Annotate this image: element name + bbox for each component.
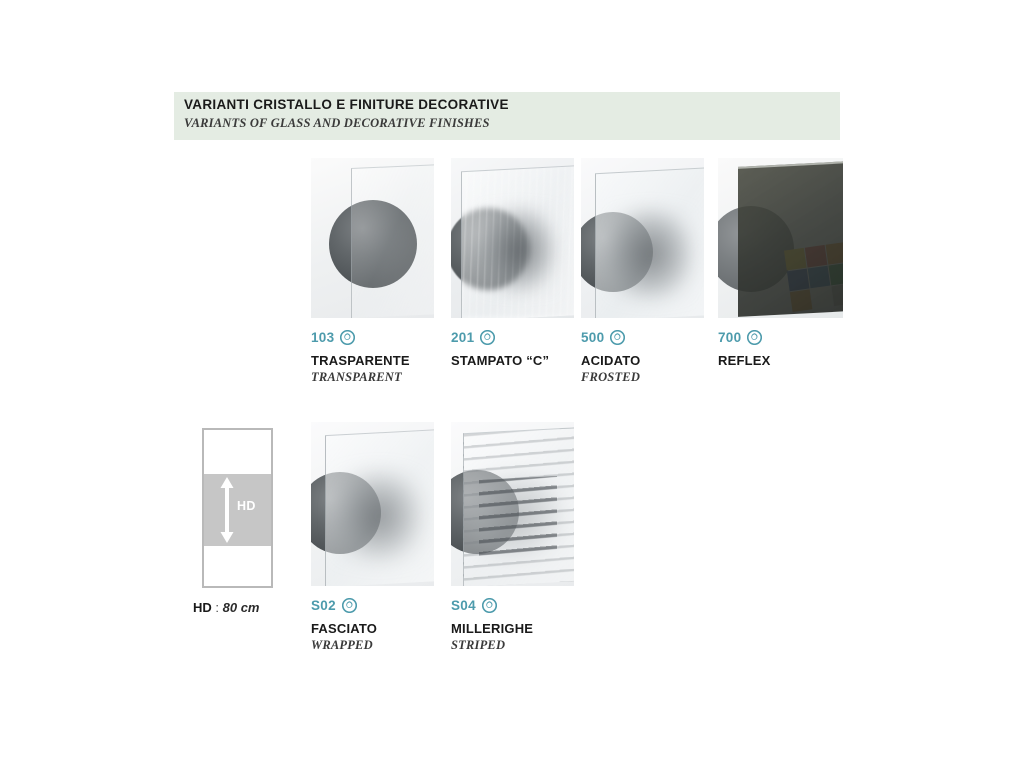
sample-image-patterned xyxy=(451,158,574,318)
sample-card-S02[interactable]: S02 FASCIATO WRAPPED xyxy=(311,422,434,586)
diffused-sphere-overlay xyxy=(335,470,423,562)
hd-dimension-diagram: HD xyxy=(202,428,273,588)
page-subtitle: VARIANTS OF GLASS AND DECORATIVE FINISHE… xyxy=(184,116,490,131)
hd-double-arrow-icon xyxy=(218,476,236,544)
sample-name: MILLERIGHE xyxy=(451,621,591,636)
hd-caption-value: 80 cm xyxy=(223,600,260,615)
sample-name-en: TRANSPARENT xyxy=(311,370,451,385)
section-header-band: VARIANTI CRISTALLO E FINITURE DECORATIVE… xyxy=(174,92,840,140)
hd-caption-separator: : xyxy=(212,600,223,615)
code-row: S04 xyxy=(451,596,591,614)
sample-caption-500: 500 ACIDATO FROSTED xyxy=(581,328,721,385)
hd-caption: HD : 80 cm xyxy=(193,600,260,615)
diffused-sphere-overlay xyxy=(607,208,693,300)
sample-card-103[interactable]: 103 TRASPARENTE TRANSPARENT xyxy=(311,158,434,318)
sample-name: ACIDATO xyxy=(581,353,721,368)
sample-name-en: WRAPPED xyxy=(311,638,451,653)
sample-code: 500 xyxy=(581,330,604,345)
water-drop-in-circle-icon xyxy=(340,330,355,345)
glass-pane-reflex xyxy=(738,161,843,317)
sample-card-S04[interactable]: S04 MILLERIGHE STRIPED xyxy=(451,422,574,586)
sample-card-500[interactable]: 500 ACIDATO FROSTED xyxy=(581,158,704,318)
water-drop-in-circle-icon xyxy=(610,330,625,345)
sample-caption-201: 201 STAMPATO “C” xyxy=(451,328,591,370)
sample-image-wrapped xyxy=(311,422,434,586)
page-title: VARIANTI CRISTALLO E FINITURE DECORATIVE xyxy=(184,97,509,112)
sample-caption-103: 103 TRASPARENTE TRANSPARENT xyxy=(311,328,451,385)
stripe-distortion-overlay xyxy=(479,476,557,556)
sample-name: TRASPARENTE xyxy=(311,353,451,368)
hd-caption-key: HD xyxy=(193,600,212,615)
sample-caption-700: 700 REFLEX xyxy=(718,328,858,370)
code-row: 500 xyxy=(581,328,721,346)
sample-caption-S02: S02 FASCIATO WRAPPED xyxy=(311,596,451,653)
sample-name-en: STRIPED xyxy=(451,638,591,653)
water-drop-in-circle-icon xyxy=(482,598,497,613)
diffused-sphere-overlay xyxy=(481,206,557,294)
sample-code: S04 xyxy=(451,598,476,613)
sample-code: 201 xyxy=(451,330,474,345)
sample-card-201[interactable]: 201 STAMPATO “C” xyxy=(451,158,574,318)
code-row: S02 xyxy=(311,596,451,614)
sample-image-striped xyxy=(451,422,574,586)
sample-name: REFLEX xyxy=(718,353,858,368)
sample-code: S02 xyxy=(311,598,336,613)
hd-label: HD xyxy=(237,499,256,513)
sample-code: 700 xyxy=(718,330,741,345)
code-row: 103 xyxy=(311,328,451,346)
sample-image-reflex xyxy=(718,158,843,318)
water-drop-in-circle-icon xyxy=(747,330,762,345)
sample-image-frosted xyxy=(581,158,704,318)
sample-name: STAMPATO “C” xyxy=(451,353,591,368)
code-row: 201 xyxy=(451,328,591,346)
water-drop-in-circle-icon xyxy=(480,330,495,345)
sample-name: FASCIATO xyxy=(311,621,451,636)
sample-image-transparent xyxy=(311,158,434,318)
code-row: 700 xyxy=(718,328,858,346)
sample-code: 103 xyxy=(311,330,334,345)
sample-caption-S04: S04 MILLERIGHE STRIPED xyxy=(451,596,591,653)
water-drop-in-circle-icon xyxy=(342,598,357,613)
sample-card-700[interactable]: 700 REFLEX xyxy=(718,158,843,318)
sample-name-en: FROSTED xyxy=(581,370,721,385)
glass-pane-clear xyxy=(351,164,434,318)
